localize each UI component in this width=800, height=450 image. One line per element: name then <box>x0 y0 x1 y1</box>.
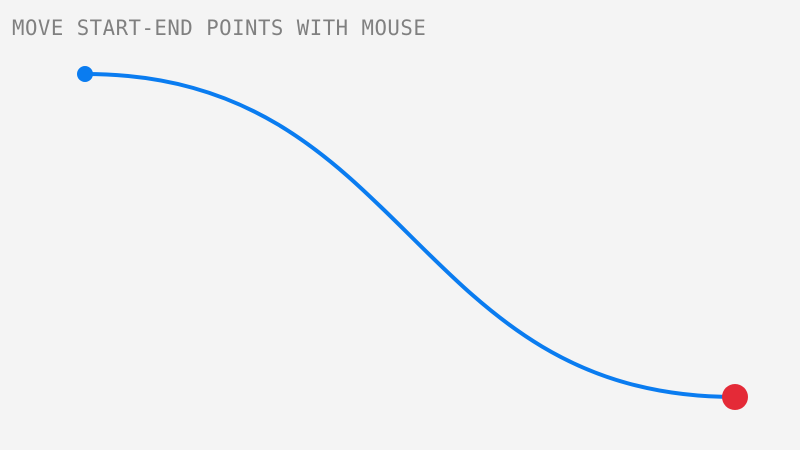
end-point-handle[interactable] <box>722 384 748 410</box>
canvas-app: MOVE START-END POINTS WITH MOUSE <box>0 0 800 450</box>
start-point-handle[interactable] <box>77 66 93 82</box>
page-title: MOVE START-END POINTS WITH MOUSE <box>12 15 426 41</box>
bezier-canvas[interactable] <box>0 0 800 450</box>
